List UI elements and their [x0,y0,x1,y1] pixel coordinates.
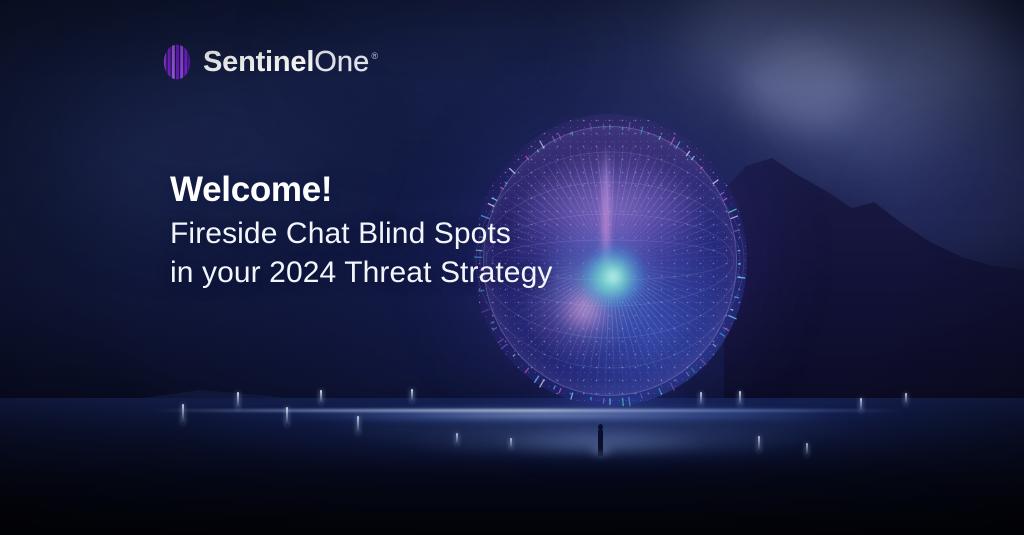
ground-light-marker [758,436,760,452]
slide-canvas: Sentinel One ® Welcome! Fireside Chat Bl… [0,0,1024,535]
sky-cloud [800,10,1024,160]
ground-light-marker [357,416,359,434]
wordmark-one: One [314,48,369,77]
ground-light-marker [806,443,808,456]
session-title-line-1: Fireside Chat Blind Spots [170,215,590,253]
session-title-line-2: in your 2024 Threat Strategy [170,254,590,292]
sentinelone-bars-icon [162,44,192,80]
ground-light-marker [860,398,862,412]
mountain-ridge-silhouette-left [0,330,420,490]
ground-light-marker [286,407,288,426]
sentinelone-wordmark: Sentinel One ® [203,48,378,77]
welcome-greeting: Welcome! [170,170,590,209]
ground-light-marker [411,389,413,402]
sky-cloud [742,40,862,130]
wordmark-sentinel: Sentinel [203,48,314,77]
headline-block: Welcome! Fireside Chat Blind Spots in yo… [170,170,590,292]
ground-light-marker [320,390,322,404]
ground-light-marker [237,392,239,409]
sky-cloud [880,130,1024,270]
ground-light-marker [456,433,458,445]
trademark-symbol: ® [371,51,378,61]
sentinelone-logo[interactable]: Sentinel One ® [162,44,378,80]
ground-light-marker [905,393,907,405]
ground-light-marker [182,404,184,424]
ground-light-marker [510,438,512,449]
